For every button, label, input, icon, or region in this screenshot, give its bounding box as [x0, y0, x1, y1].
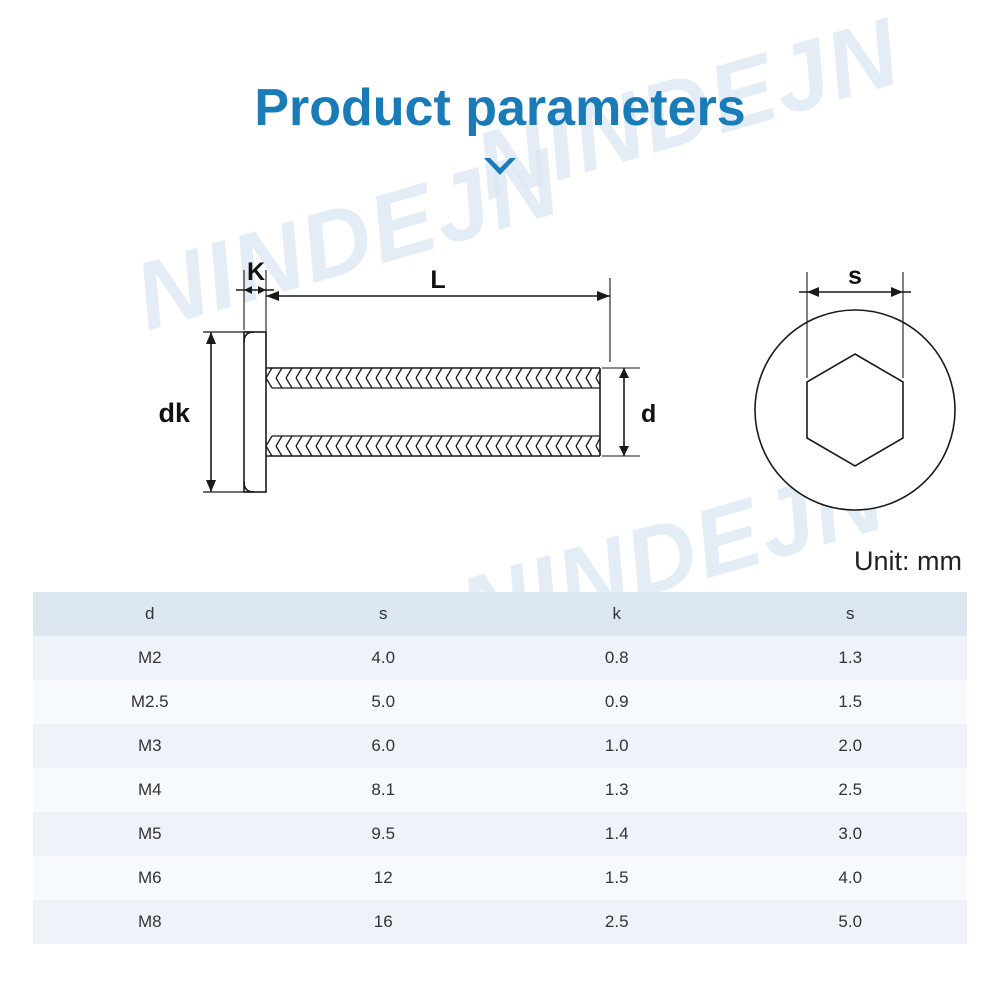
- cell-s: 5.0: [734, 900, 968, 944]
- cell-s: 4.0: [734, 856, 968, 900]
- table-row: M4 8.1 1.3 2.5: [33, 768, 967, 812]
- cell-s: 2.5: [734, 768, 968, 812]
- cell-d: M8: [33, 900, 267, 944]
- label-s: s: [848, 262, 862, 290]
- table-row: M8 16 2.5 5.0: [33, 900, 967, 944]
- cell-k: 1.4: [500, 812, 734, 856]
- cell-k: 1.5: [500, 856, 734, 900]
- parameters-table-wrapper: d s k s M2 4.0 0.8 1.3 M2.5 5.0 0.9 1.5 …: [33, 592, 967, 944]
- label-k: K: [247, 258, 265, 286]
- column-header-d: d: [33, 592, 267, 636]
- unit-note: Unit: mm: [854, 546, 962, 577]
- cell-s: 1.3: [734, 636, 968, 680]
- cell-dk: 8.1: [267, 768, 501, 812]
- cell-dk: 9.5: [267, 812, 501, 856]
- page-title: Product parameters: [0, 78, 1000, 138]
- table-row: M2 4.0 0.8 1.3: [33, 636, 967, 680]
- column-header-k: k: [500, 592, 734, 636]
- table-header-row: d s k s: [33, 592, 967, 636]
- cell-k: 0.8: [500, 636, 734, 680]
- label-d: d: [641, 400, 656, 428]
- table-row: M2.5 5.0 0.9 1.5: [33, 680, 967, 724]
- cell-s: 3.0: [734, 812, 968, 856]
- label-l: L: [430, 266, 445, 294]
- parameters-table: d s k s M2 4.0 0.8 1.3 M2.5 5.0 0.9 1.5 …: [33, 592, 967, 944]
- cell-k: 1.3: [500, 768, 734, 812]
- table-row: M6 12 1.5 4.0: [33, 856, 967, 900]
- cell-d: M4: [33, 768, 267, 812]
- cell-s: 1.5: [734, 680, 968, 724]
- table-row: M3 6.0 1.0 2.0: [33, 724, 967, 768]
- cell-d: M5: [33, 812, 267, 856]
- cell-dk: 5.0: [267, 680, 501, 724]
- cell-d: M2.5: [33, 680, 267, 724]
- cell-dk: 6.0: [267, 724, 501, 768]
- chevron-down-icon: [0, 152, 1000, 186]
- cell-dk: 12: [267, 856, 501, 900]
- cell-k: 1.0: [500, 724, 734, 768]
- technical-drawing: K L dk d s: [0, 250, 1000, 520]
- cell-s: 2.0: [734, 724, 968, 768]
- cell-k: 2.5: [500, 900, 734, 944]
- cell-dk: 4.0: [267, 636, 501, 680]
- cell-k: 0.9: [500, 680, 734, 724]
- label-dk: dk: [158, 398, 190, 428]
- column-header-dk: s: [267, 592, 501, 636]
- cell-d: M3: [33, 724, 267, 768]
- cell-dk: 16: [267, 900, 501, 944]
- table-row: M5 9.5 1.4 3.0: [33, 812, 967, 856]
- cell-d: M6: [33, 856, 267, 900]
- column-header-s: s: [734, 592, 968, 636]
- cell-d: M2: [33, 636, 267, 680]
